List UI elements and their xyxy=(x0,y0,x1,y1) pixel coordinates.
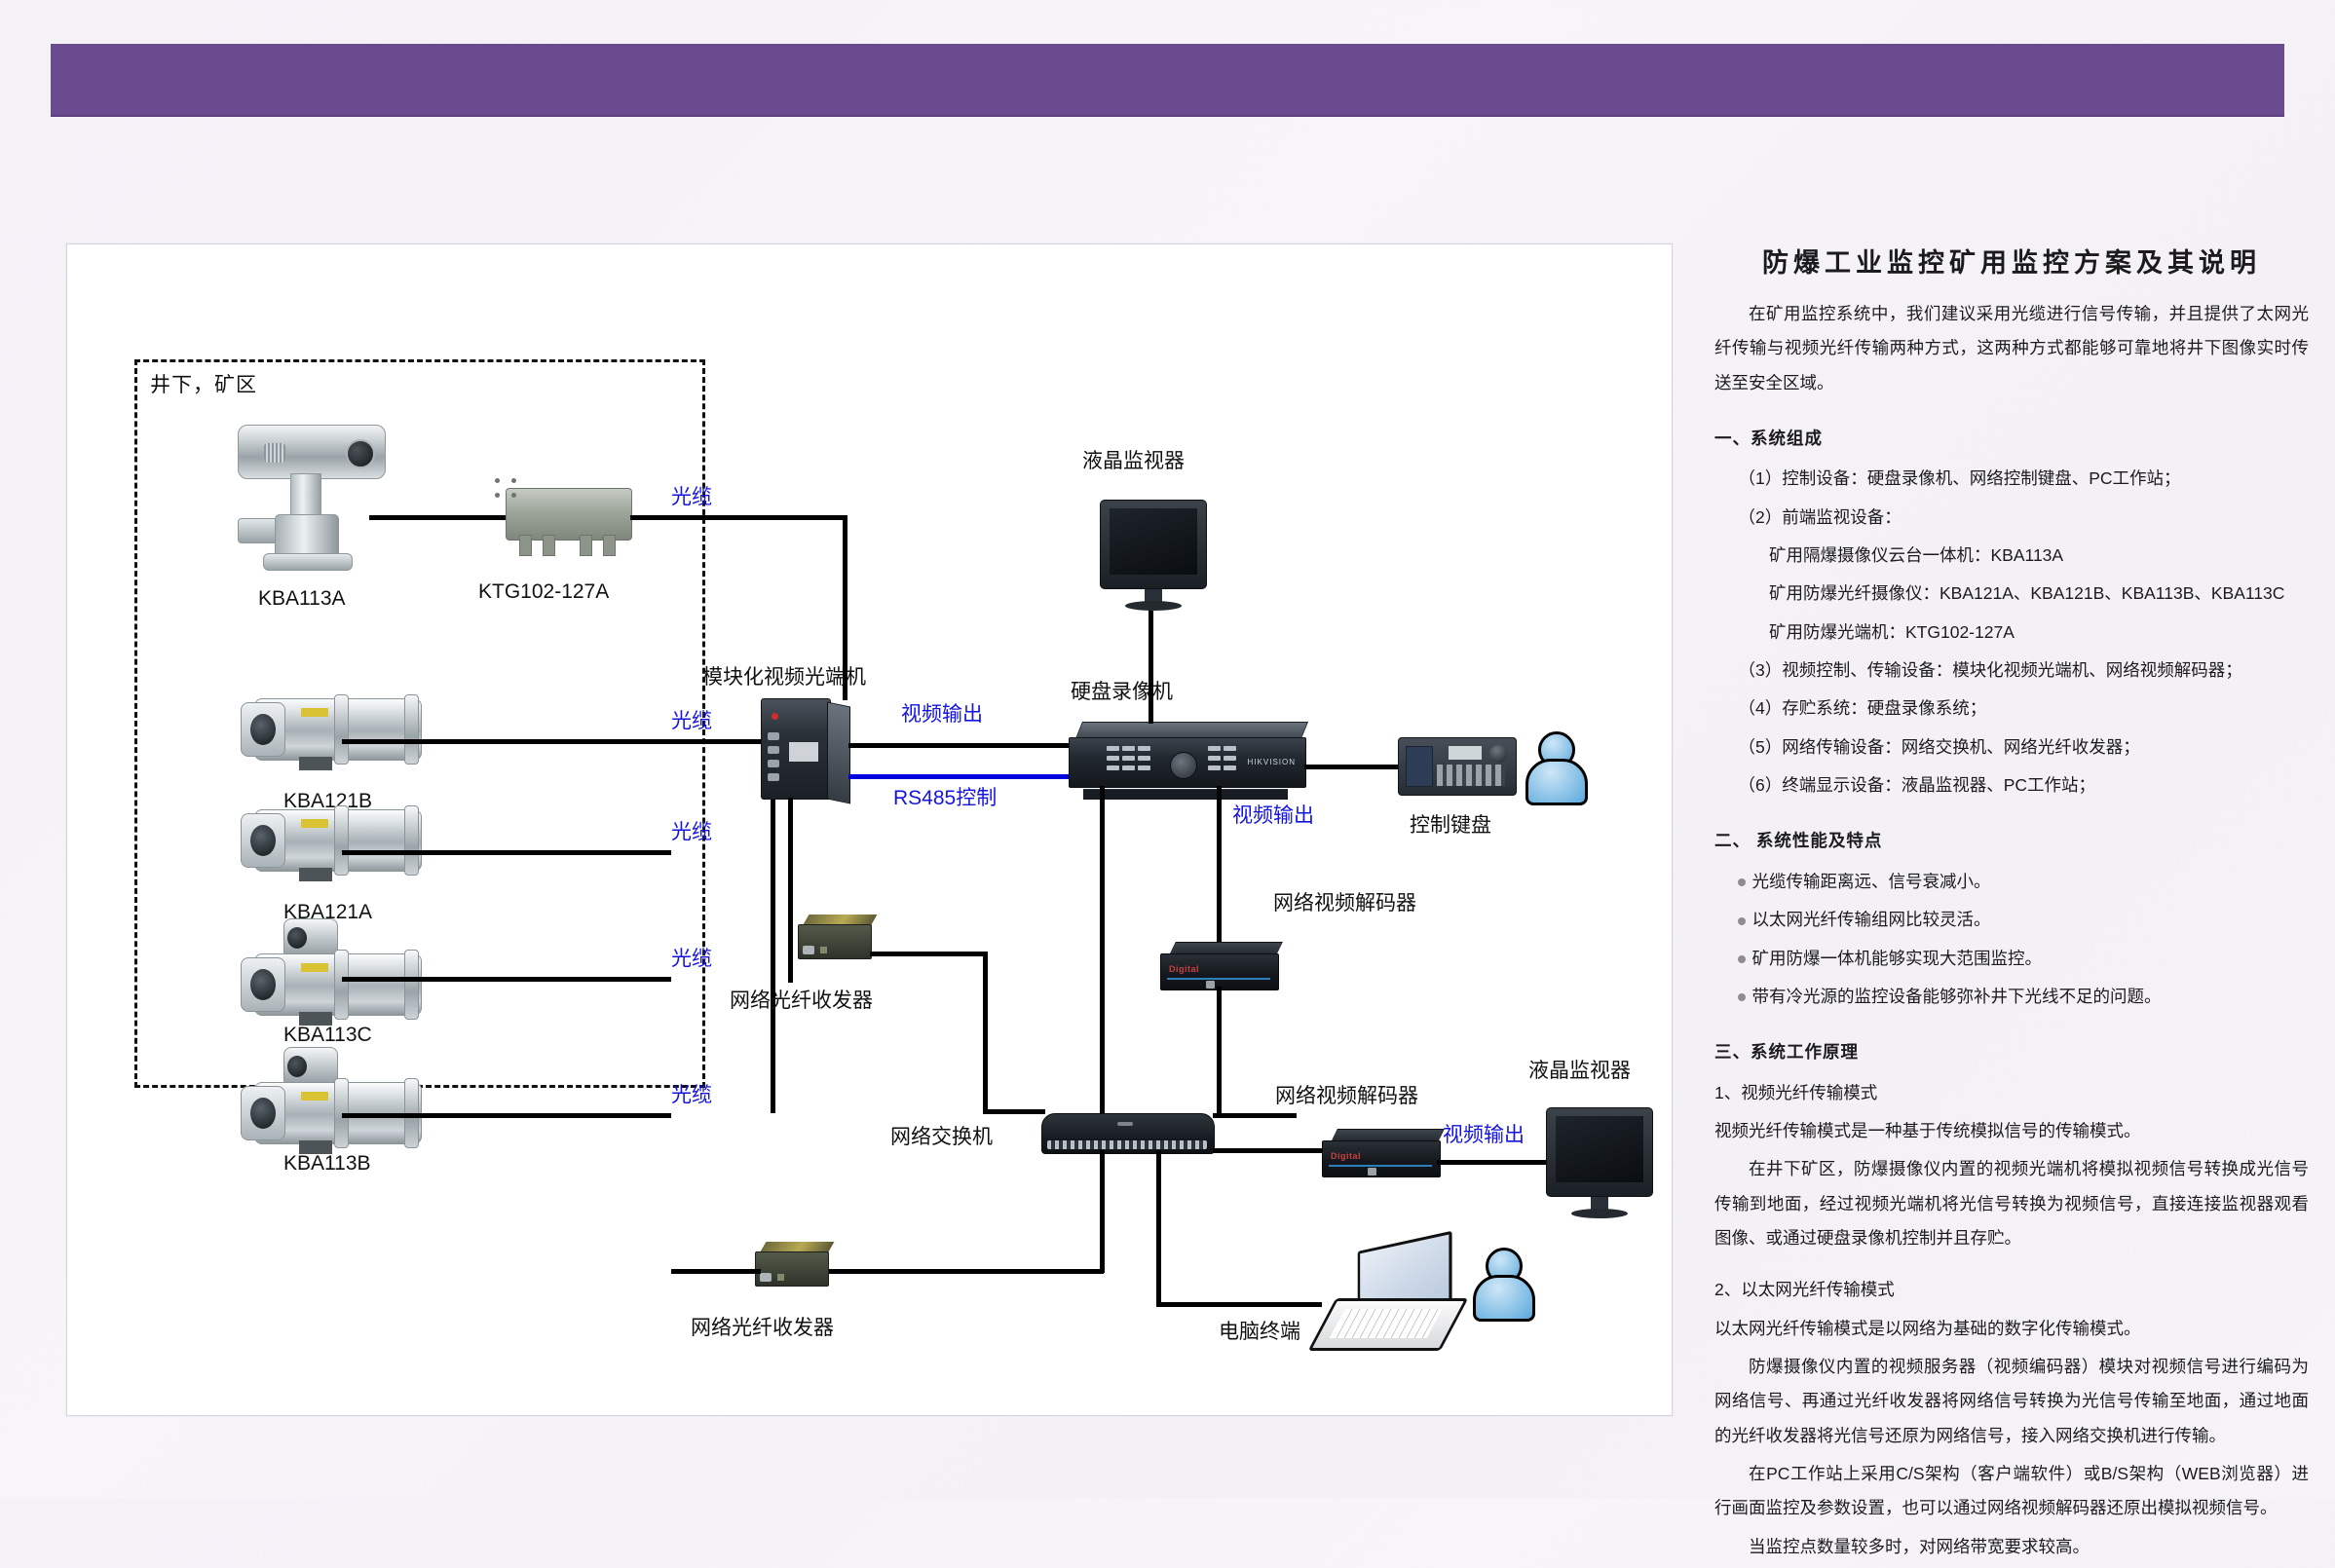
label-kba113b: KBA113B xyxy=(283,1152,371,1176)
label-network-switch: 网络交换机 xyxy=(890,1121,993,1150)
wire-fxc-bottom-in xyxy=(671,1269,761,1274)
lcd-monitor-top-image xyxy=(1100,500,1207,589)
label-cable-3: 光缆 xyxy=(671,816,712,845)
section-2-bullet-1: 光缆传输距离远、信号衰减小。 xyxy=(1714,865,2309,899)
network-switch-image xyxy=(1041,1113,1215,1154)
wire-kba121a xyxy=(342,850,671,855)
header-banner xyxy=(51,44,2284,117)
wire-dvr-to-keyboard xyxy=(1304,765,1398,769)
section-3-paragraph-6: 当监控点数量较多时，对网络带宽要求较高。 xyxy=(1714,1530,2309,1564)
article-intro: 在矿用监控系统中，我们建议采用光缆进行信号传输，并且提供了太网光纤传输与视频光纤… xyxy=(1714,297,2309,400)
wire-switch-to-laptop xyxy=(1156,1302,1322,1307)
label-decoder-bottom: 网络视频解码器 xyxy=(1275,1080,1418,1109)
label-fiber-transceiver-top: 网络光纤收发器 xyxy=(730,985,873,1014)
section-1-item-5: （5）网络传输设备：网络交换机、网络光纤收发器； xyxy=(1714,730,2309,765)
label-lcd-monitor-bottom: 液晶监视器 xyxy=(1528,1055,1631,1084)
label-video-output-1: 视频输出 xyxy=(901,698,983,728)
wire-ptz-to-jbox xyxy=(369,515,506,520)
wire-decoder-top-down xyxy=(1217,987,1222,1113)
section-3-sub-heading-1: 1、视频光纤传输模式 xyxy=(1714,1076,2309,1110)
label-lcd-monitor-top: 液晶监视器 xyxy=(1082,445,1185,474)
wire-dvr-to-monitor xyxy=(1149,607,1153,724)
wire-dvr-video-output-down xyxy=(1217,786,1222,942)
section-3-heading: 三、系统工作原理 xyxy=(1714,1035,2309,1069)
label-decoder-top: 网络视频解码器 xyxy=(1273,887,1416,916)
underground-zone-label: 井下，矿区 xyxy=(150,369,257,398)
lcd-monitor-bottom-image xyxy=(1546,1107,1653,1197)
wire-switch-down-1 xyxy=(1100,1150,1105,1273)
wire-dvr-to-switch xyxy=(1100,786,1105,1156)
label-fiber-transceiver-bottom: 网络光纤收发器 xyxy=(691,1312,834,1341)
section-2-bullet-4: 带有冷光源的监控设备能够弥补井下光线不足的问题。 xyxy=(1714,980,2309,1014)
wire-fxc-top-to-switch xyxy=(870,952,987,956)
article-column: 防爆工业监控矿用监控方案及其说明 在矿用监控系统中，我们建议采用光缆进行信号传输… xyxy=(1714,242,2309,1568)
section-2-bullet-3: 矿用防爆一体机能够实现大范围监控。 xyxy=(1714,942,2309,976)
section-2-bullet-2: 以太网光纤传输组网比较灵活。 xyxy=(1714,903,2309,937)
section-3-paragraph-2: 在井下矿区，防爆摄像仪内置的视频光端机将模拟视频信号转换成光信号传输到地面，经过… xyxy=(1714,1152,2309,1255)
section-3-paragraph-4: 防爆摄像仪内置的视频服务器（视频编码器）模块对视频信号进行编码为网络信号、再通过… xyxy=(1714,1350,2309,1453)
label-ktg102-127a: KTG102-127A xyxy=(478,580,609,604)
label-cable-2: 光缆 xyxy=(671,705,712,734)
section-3-sub-heading-2: 2、以太网光纤传输模式 xyxy=(1714,1273,2309,1307)
label-kba113c: KBA113C xyxy=(283,1024,372,1047)
wire-switch-to-decoder-top xyxy=(1213,1113,1297,1118)
section-1-sub-item-1: 矿用隔爆摄像仪云台一体机：KBA113A xyxy=(1714,539,2309,573)
label-rs485-control: RS485控制 xyxy=(893,782,997,811)
section-3-paragraph-5: 在PC工作站上采用C/S架构（客户端软件）或B/S架构（WEB浏览器）进行画面监… xyxy=(1714,1457,2309,1526)
label-kba113a: KBA113A xyxy=(258,587,346,611)
wire-switch-down-2 xyxy=(1156,1150,1161,1306)
section-1-item-4: （4）存贮系统：硬盘录像系统； xyxy=(1714,691,2309,726)
wire-decoder-bottom-to-monitor xyxy=(1437,1160,1546,1165)
control-keyboard-image xyxy=(1398,737,1517,796)
label-cable-1: 光缆 xyxy=(671,481,712,510)
section-1-sub-item-2: 矿用防爆光纤摄像仪：KBA121A、KBA121B、KBA113B、KBA113… xyxy=(1714,577,2309,611)
label-video-output-2: 视频输出 xyxy=(1232,800,1314,829)
wire-switch-to-fxc-bottom xyxy=(827,1269,1104,1274)
wire-kba113c xyxy=(342,977,671,982)
wire-kba113b xyxy=(342,1113,671,1118)
section-3-paragraph-1: 视频光纤传输模式是一种基于传统模拟信号的传输模式。 xyxy=(1714,1114,2309,1148)
wire-jbox-to-trunk xyxy=(630,515,847,520)
label-cable-5: 光缆 xyxy=(671,1079,712,1108)
section-1-item-2: （2）前端监视设备： xyxy=(1714,501,2309,535)
label-video-output-3: 视频输出 xyxy=(1443,1119,1525,1148)
section-1-item-3: （3）视频控制、传输设备：模块化视频光端机、网络视频解码器； xyxy=(1714,653,2309,688)
wire-optical-downlink xyxy=(788,798,793,983)
wire-rs485-control xyxy=(848,774,1073,779)
wire-kba121b xyxy=(342,739,774,744)
section-1-heading: 一、系统组成 xyxy=(1714,422,2309,456)
label-cable-4: 光缆 xyxy=(671,943,712,972)
wire-fxc-top-down xyxy=(983,952,988,1113)
label-dvr: 硬盘录像机 xyxy=(1071,676,1173,705)
section-1-item-6: （6）终端显示设备：液晶监视器、PC工作站； xyxy=(1714,768,2309,803)
wire-video-output-to-dvr xyxy=(848,743,1073,748)
section-2-heading: 二、 系统性能及特点 xyxy=(1714,824,2309,858)
system-diagram-panel: 井下，矿区 KBA113A KTG102-127A 光缆 KBA121B 光缆 … xyxy=(66,243,1673,1416)
section-1-item-1: （1）控制设备：硬盘录像机、网络控制键盘、PC工作站； xyxy=(1714,462,2309,496)
label-control-keyboard: 控制键盘 xyxy=(1410,809,1491,839)
section-3-paragraph-3: 以太网光纤传输模式是以网络为基础的数字化传输模式。 xyxy=(1714,1312,2309,1346)
section-1-sub-item-3: 矿用防爆光端机：KTG102-127A xyxy=(1714,616,2309,650)
label-modular-optical-terminal: 模块化视频光端机 xyxy=(702,661,866,691)
article-title: 防爆工业监控矿用监控方案及其说明 xyxy=(1714,242,2309,280)
wire-switch-left-in xyxy=(983,1109,1045,1114)
label-pc-terminal: 电脑终端 xyxy=(1219,1316,1300,1345)
